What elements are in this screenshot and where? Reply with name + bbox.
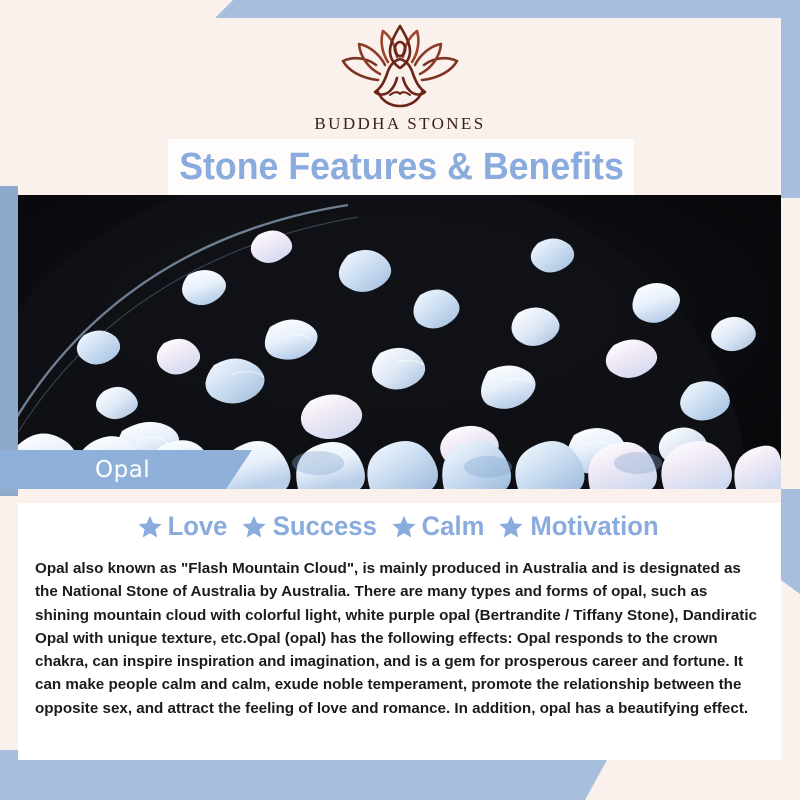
star-icon — [137, 514, 163, 540]
content-panel: Love Success Calm Motivation O — [18, 489, 781, 760]
right-lower-accent-strip — [781, 489, 800, 594]
star-icon — [391, 514, 417, 540]
benefit-item-love: Love — [137, 511, 229, 542]
benefit-label: Calm — [422, 511, 485, 542]
header: BUDDHA STONES Stone Features & Benefits — [0, 0, 800, 196]
stone-photo — [18, 195, 781, 489]
brand-name: BUDDHA STONES — [314, 114, 485, 134]
bottom-accent-cap — [0, 750, 18, 760]
benefit-item-success: Success — [241, 511, 380, 542]
description-text: Opal also known as "Flash Mountain Cloud… — [35, 557, 765, 720]
benefit-label: Love — [167, 511, 227, 542]
brand-logo: BUDDHA STONES — [0, 22, 800, 134]
benefits-row: Love Success Calm Motivation — [18, 511, 781, 542]
lotus-meditation-icon — [334, 22, 466, 110]
stone-name-label: Opal — [95, 457, 150, 483]
opal-stones-image — [18, 195, 781, 489]
benefit-label: Success — [272, 511, 376, 542]
infographic-page: BUDDHA STONES Stone Features & Benefits — [0, 0, 800, 800]
bottom-accent-bar — [0, 760, 607, 800]
title-banner: Stone Features & Benefits — [168, 139, 634, 195]
star-icon — [241, 514, 267, 540]
page-title: Stone Features & Benefits — [179, 146, 624, 189]
left-accent-strip — [0, 186, 18, 496]
stone-name-banner: Opal — [0, 450, 252, 489]
benefit-label: Motivation — [531, 511, 659, 542]
star-icon — [498, 514, 524, 540]
content-top-tint — [18, 489, 781, 503]
benefit-item-motivation: Motivation — [498, 511, 662, 542]
benefit-item-calm: Calm — [391, 511, 486, 542]
